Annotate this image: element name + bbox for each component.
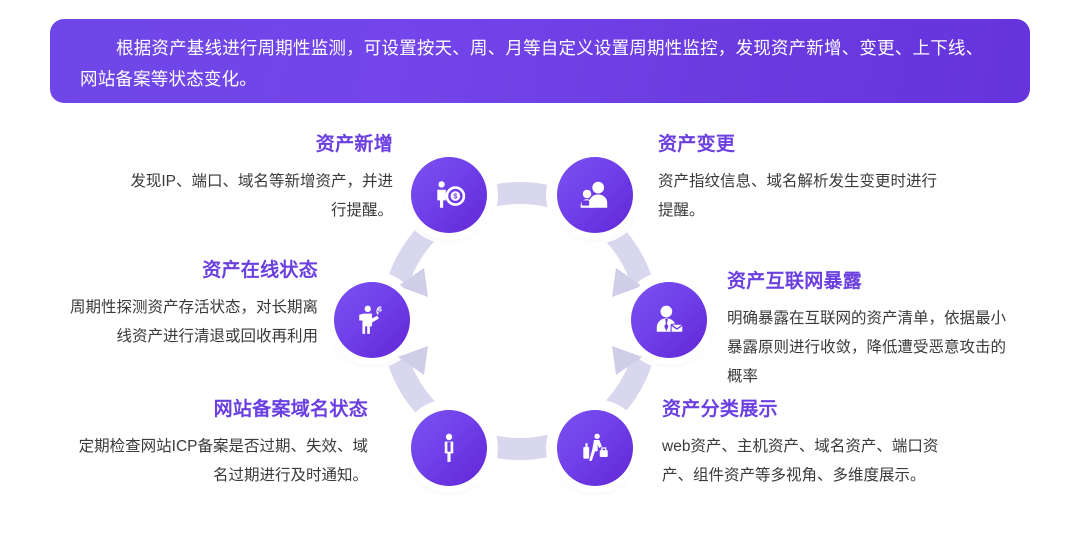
desc-asset-new: 发现IP、端口、域名等新增资产，并进行提醒。 bbox=[118, 167, 393, 225]
node-asset-online-status[interactable]: $ bbox=[334, 282, 410, 358]
block-asset-classification-display: 资产分类展示 web资产、主机资产、域名资产、端口资产、组件资产等多视角、多维度… bbox=[662, 397, 962, 490]
summary-banner: 根据资产基线进行周期性监测，可设置按天、周、月等自定义设置周期性监控，发现资产新… bbox=[50, 19, 1030, 103]
person-holding-money-icon: $ bbox=[355, 303, 389, 337]
person-with-coin-icon: $ bbox=[432, 178, 466, 212]
node-website-icp-domain-status[interactable] bbox=[411, 410, 487, 486]
block-asset-internet-exposure: 资产互联网暴露 明确暴露在互联网的资产清单，依据最小暴露原则进行收敛，降低遭受恶… bbox=[727, 269, 1017, 391]
banner-text: 根据资产基线进行周期性监测，可设置按天、周、月等自定义设置周期性监控，发现资产新… bbox=[80, 33, 1000, 95]
block-asset-new: 资产新增 发现IP、端口、域名等新增资产，并进行提醒。 bbox=[118, 132, 393, 225]
standing-person-icon bbox=[432, 431, 466, 465]
node-asset-new[interactable]: $ bbox=[411, 157, 487, 233]
desc-asset-online-status: 周期性探测资产存活状态，对长期离线资产进行清退或回收再利用 bbox=[68, 293, 318, 351]
infographic-page: 根据资产基线进行周期性监测，可设置按天、周、月等自定义设置周期性监控，发现资产新… bbox=[0, 0, 1080, 537]
person-with-envelope-icon bbox=[652, 303, 686, 337]
title-asset-online-status: 资产在线状态 bbox=[68, 258, 318, 284]
node-asset-change[interactable] bbox=[557, 157, 633, 233]
two-people-icon bbox=[578, 178, 612, 212]
node-asset-internet-exposure[interactable] bbox=[631, 282, 707, 358]
title-asset-classification-display: 资产分类展示 bbox=[662, 397, 962, 423]
title-asset-internet-exposure: 资产互联网暴露 bbox=[727, 269, 1017, 295]
desc-asset-internet-exposure: 明确暴露在互联网的资产清单，依据最小暴露原则进行收敛，降低遭受恶意攻击的概率 bbox=[727, 304, 1017, 391]
desc-asset-classification-display: web资产、主机资产、域名资产、端口资产、组件资产等多视角、多维度展示。 bbox=[662, 432, 962, 490]
block-website-icp-domain-status: 网站备案域名状态 定期检查网站ICP备案是否过期、失效、域名过期进行及时通知。 bbox=[78, 397, 368, 490]
traveler-with-luggage-icon bbox=[578, 431, 612, 465]
block-asset-online-status: 资产在线状态 周期性探测资产存活状态，对长期离线资产进行清退或回收再利用 bbox=[68, 258, 318, 351]
title-website-icp-domain-status: 网站备案域名状态 bbox=[78, 397, 368, 423]
desc-asset-change: 资产指纹信息、域名解析发生变更时进行提醒。 bbox=[658, 167, 938, 225]
desc-website-icp-domain-status: 定期检查网站ICP备案是否过期、失效、域名过期进行及时通知。 bbox=[78, 432, 368, 490]
node-asset-classification-display[interactable] bbox=[557, 410, 633, 486]
title-asset-new: 资产新增 bbox=[118, 132, 393, 158]
block-asset-change: 资产变更 资产指纹信息、域名解析发生变更时进行提醒。 bbox=[658, 132, 938, 225]
cycle-diagram: $ $ bbox=[0, 110, 1080, 537]
title-asset-change: 资产变更 bbox=[658, 132, 938, 158]
svg-text:$: $ bbox=[378, 307, 382, 314]
